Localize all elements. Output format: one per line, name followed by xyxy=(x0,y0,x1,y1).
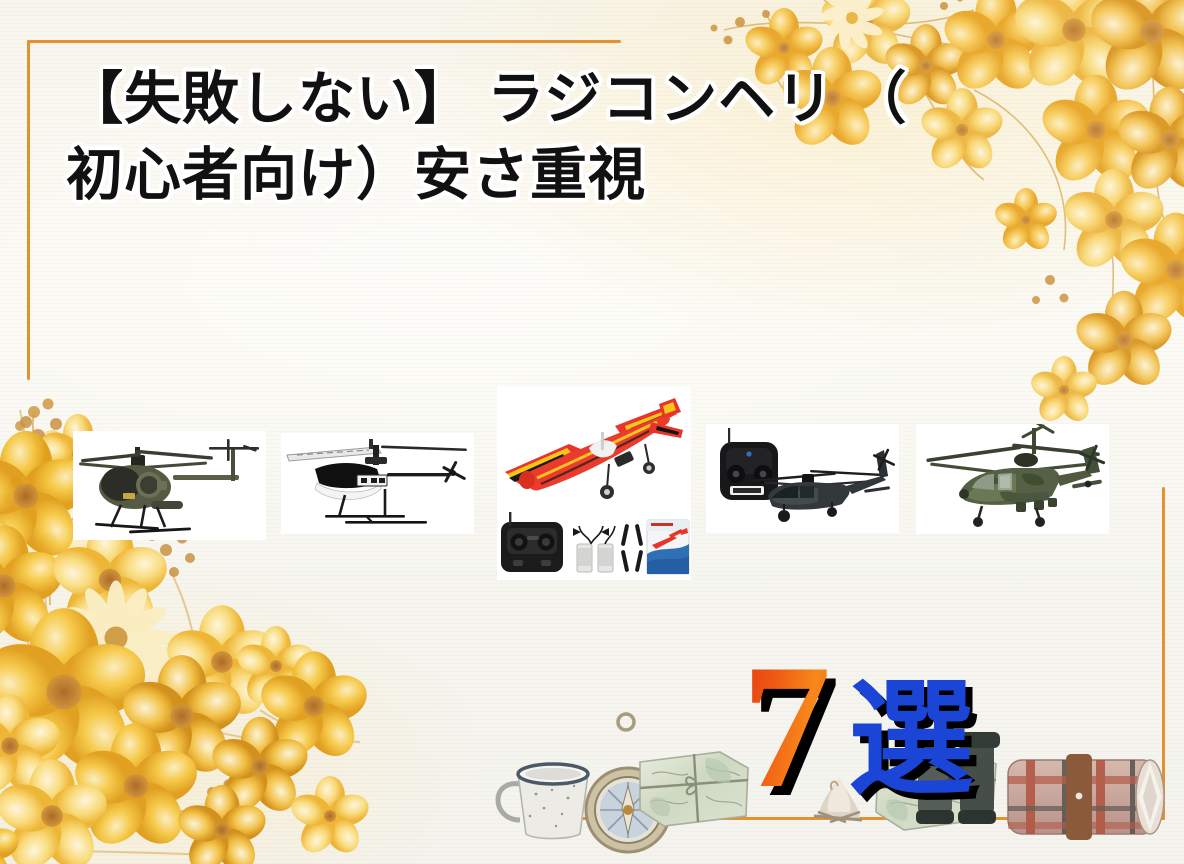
camping-decoration-strip xyxy=(0,690,1184,864)
frame-line-left xyxy=(27,40,30,380)
blackhawk-with-transmitter-illustration xyxy=(706,424,899,533)
page-title: 【失敗しない】 ラジコンヘリ （ 初心者向け）安さ重視 xyxy=(66,62,1076,214)
product-image-4-black-hawk-helicopter-with-transmitter[interactable] xyxy=(706,424,899,533)
product-image-5-green-apache-attack-helicopter[interactable] xyxy=(916,424,1109,534)
count-badge: 7 選 xyxy=(742,655,1002,845)
black-white-helicopter-illustration xyxy=(281,433,474,534)
badge-number-7: 7 xyxy=(742,637,827,815)
product-image-2-black-white-rc-helicopter[interactable] xyxy=(281,433,474,534)
camping-items-svg xyxy=(0,690,1184,864)
folded-map-left-icon xyxy=(640,752,748,826)
frame-line-top xyxy=(27,40,621,43)
red-airplane-set-illustration xyxy=(497,386,691,580)
olive-helicopter-illustration xyxy=(73,431,266,540)
product-image-3-red-rc-airplane-set[interactable] xyxy=(497,386,691,580)
thumbnail-canvas: 【失敗しない】 ラジコンヘリ （ 初心者向け）安さ重視 xyxy=(0,0,1184,864)
frame-line-right xyxy=(1162,487,1165,820)
rolled-plaid-blanket-icon xyxy=(1008,754,1164,840)
green-apache-illustration xyxy=(916,424,1109,534)
badge-kanji-sen: 選 xyxy=(848,679,974,805)
product-image-1-olive-military-rc-helicopter[interactable] xyxy=(73,431,266,540)
enamel-mug-icon xyxy=(498,764,588,839)
compass-icon xyxy=(586,714,670,852)
